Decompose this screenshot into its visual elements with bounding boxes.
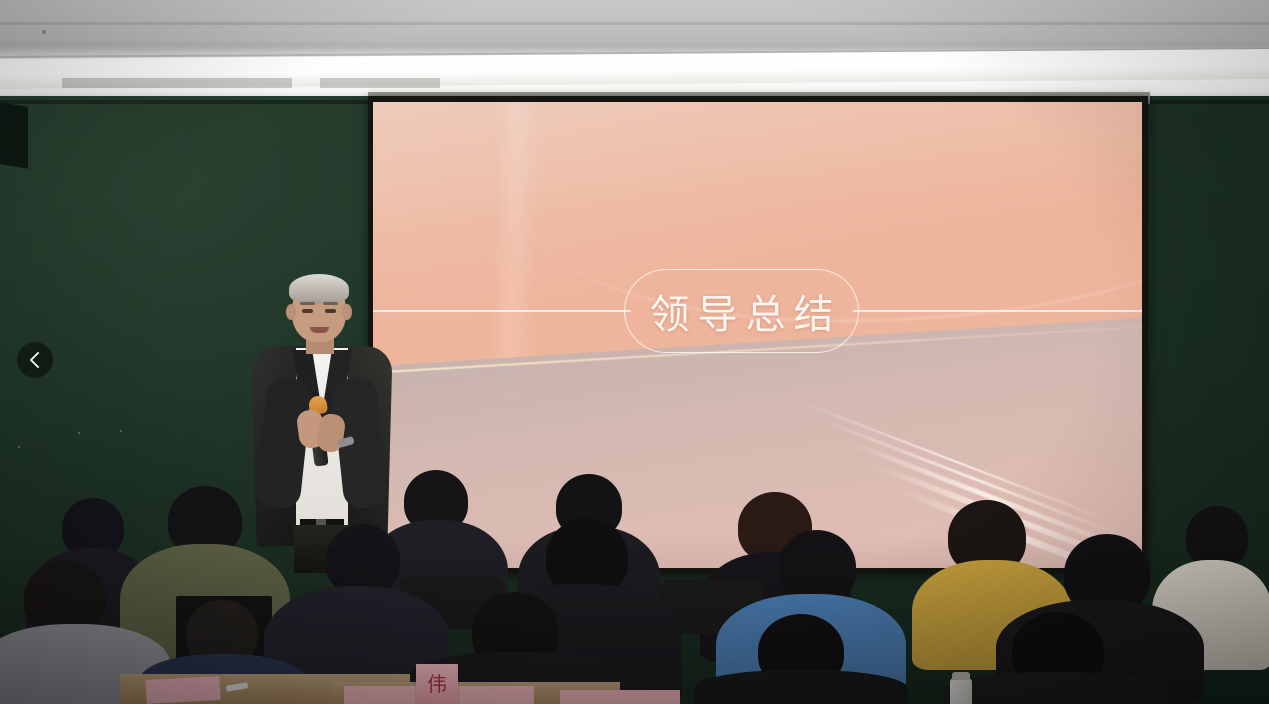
- photo-viewer: 领导总结: [0, 0, 1269, 704]
- speaker-hair: [289, 274, 349, 304]
- speaker-eye-left: [302, 309, 313, 313]
- slide-title-pill: 领导总结: [624, 269, 859, 353]
- name-placard: 伟: [416, 664, 458, 704]
- wall-mounted-speaker: [0, 101, 28, 168]
- desk-paper: [145, 676, 220, 704]
- attendee-body: [944, 672, 1170, 704]
- desk-paper: [560, 690, 680, 704]
- attendee-body: [694, 670, 908, 704]
- water-bottle-cap: [952, 672, 970, 680]
- ceiling-panel-seam: [62, 78, 292, 88]
- speaker-brow-left: [300, 302, 315, 305]
- slide-rule-left: [373, 310, 631, 312]
- slide-rule-right: [853, 310, 1142, 312]
- ceiling-screw: [42, 30, 46, 34]
- ceiling-rail: [0, 22, 1269, 25]
- attendee-head: [1186, 506, 1248, 568]
- speaker-ear-right: [342, 304, 352, 320]
- wall-speck: [78, 432, 80, 434]
- wall-speck: [120, 430, 122, 432]
- prev-image-button[interactable]: [17, 342, 53, 378]
- speaker-brow-right: [323, 302, 338, 305]
- water-bottle: [950, 678, 972, 704]
- wall-speck: [18, 446, 20, 448]
- ceiling: [0, 0, 1269, 100]
- name-placard-text: 伟: [427, 675, 447, 695]
- speaker-ear-left: [286, 304, 296, 320]
- speaker-mouth: [310, 327, 329, 333]
- speaker-eye-right: [325, 309, 336, 313]
- ceiling-panel-seam: [320, 78, 440, 88]
- attendee-head: [778, 530, 856, 604]
- chevron-left-icon: [28, 351, 42, 369]
- slide-title: 领导总结: [642, 282, 842, 340]
